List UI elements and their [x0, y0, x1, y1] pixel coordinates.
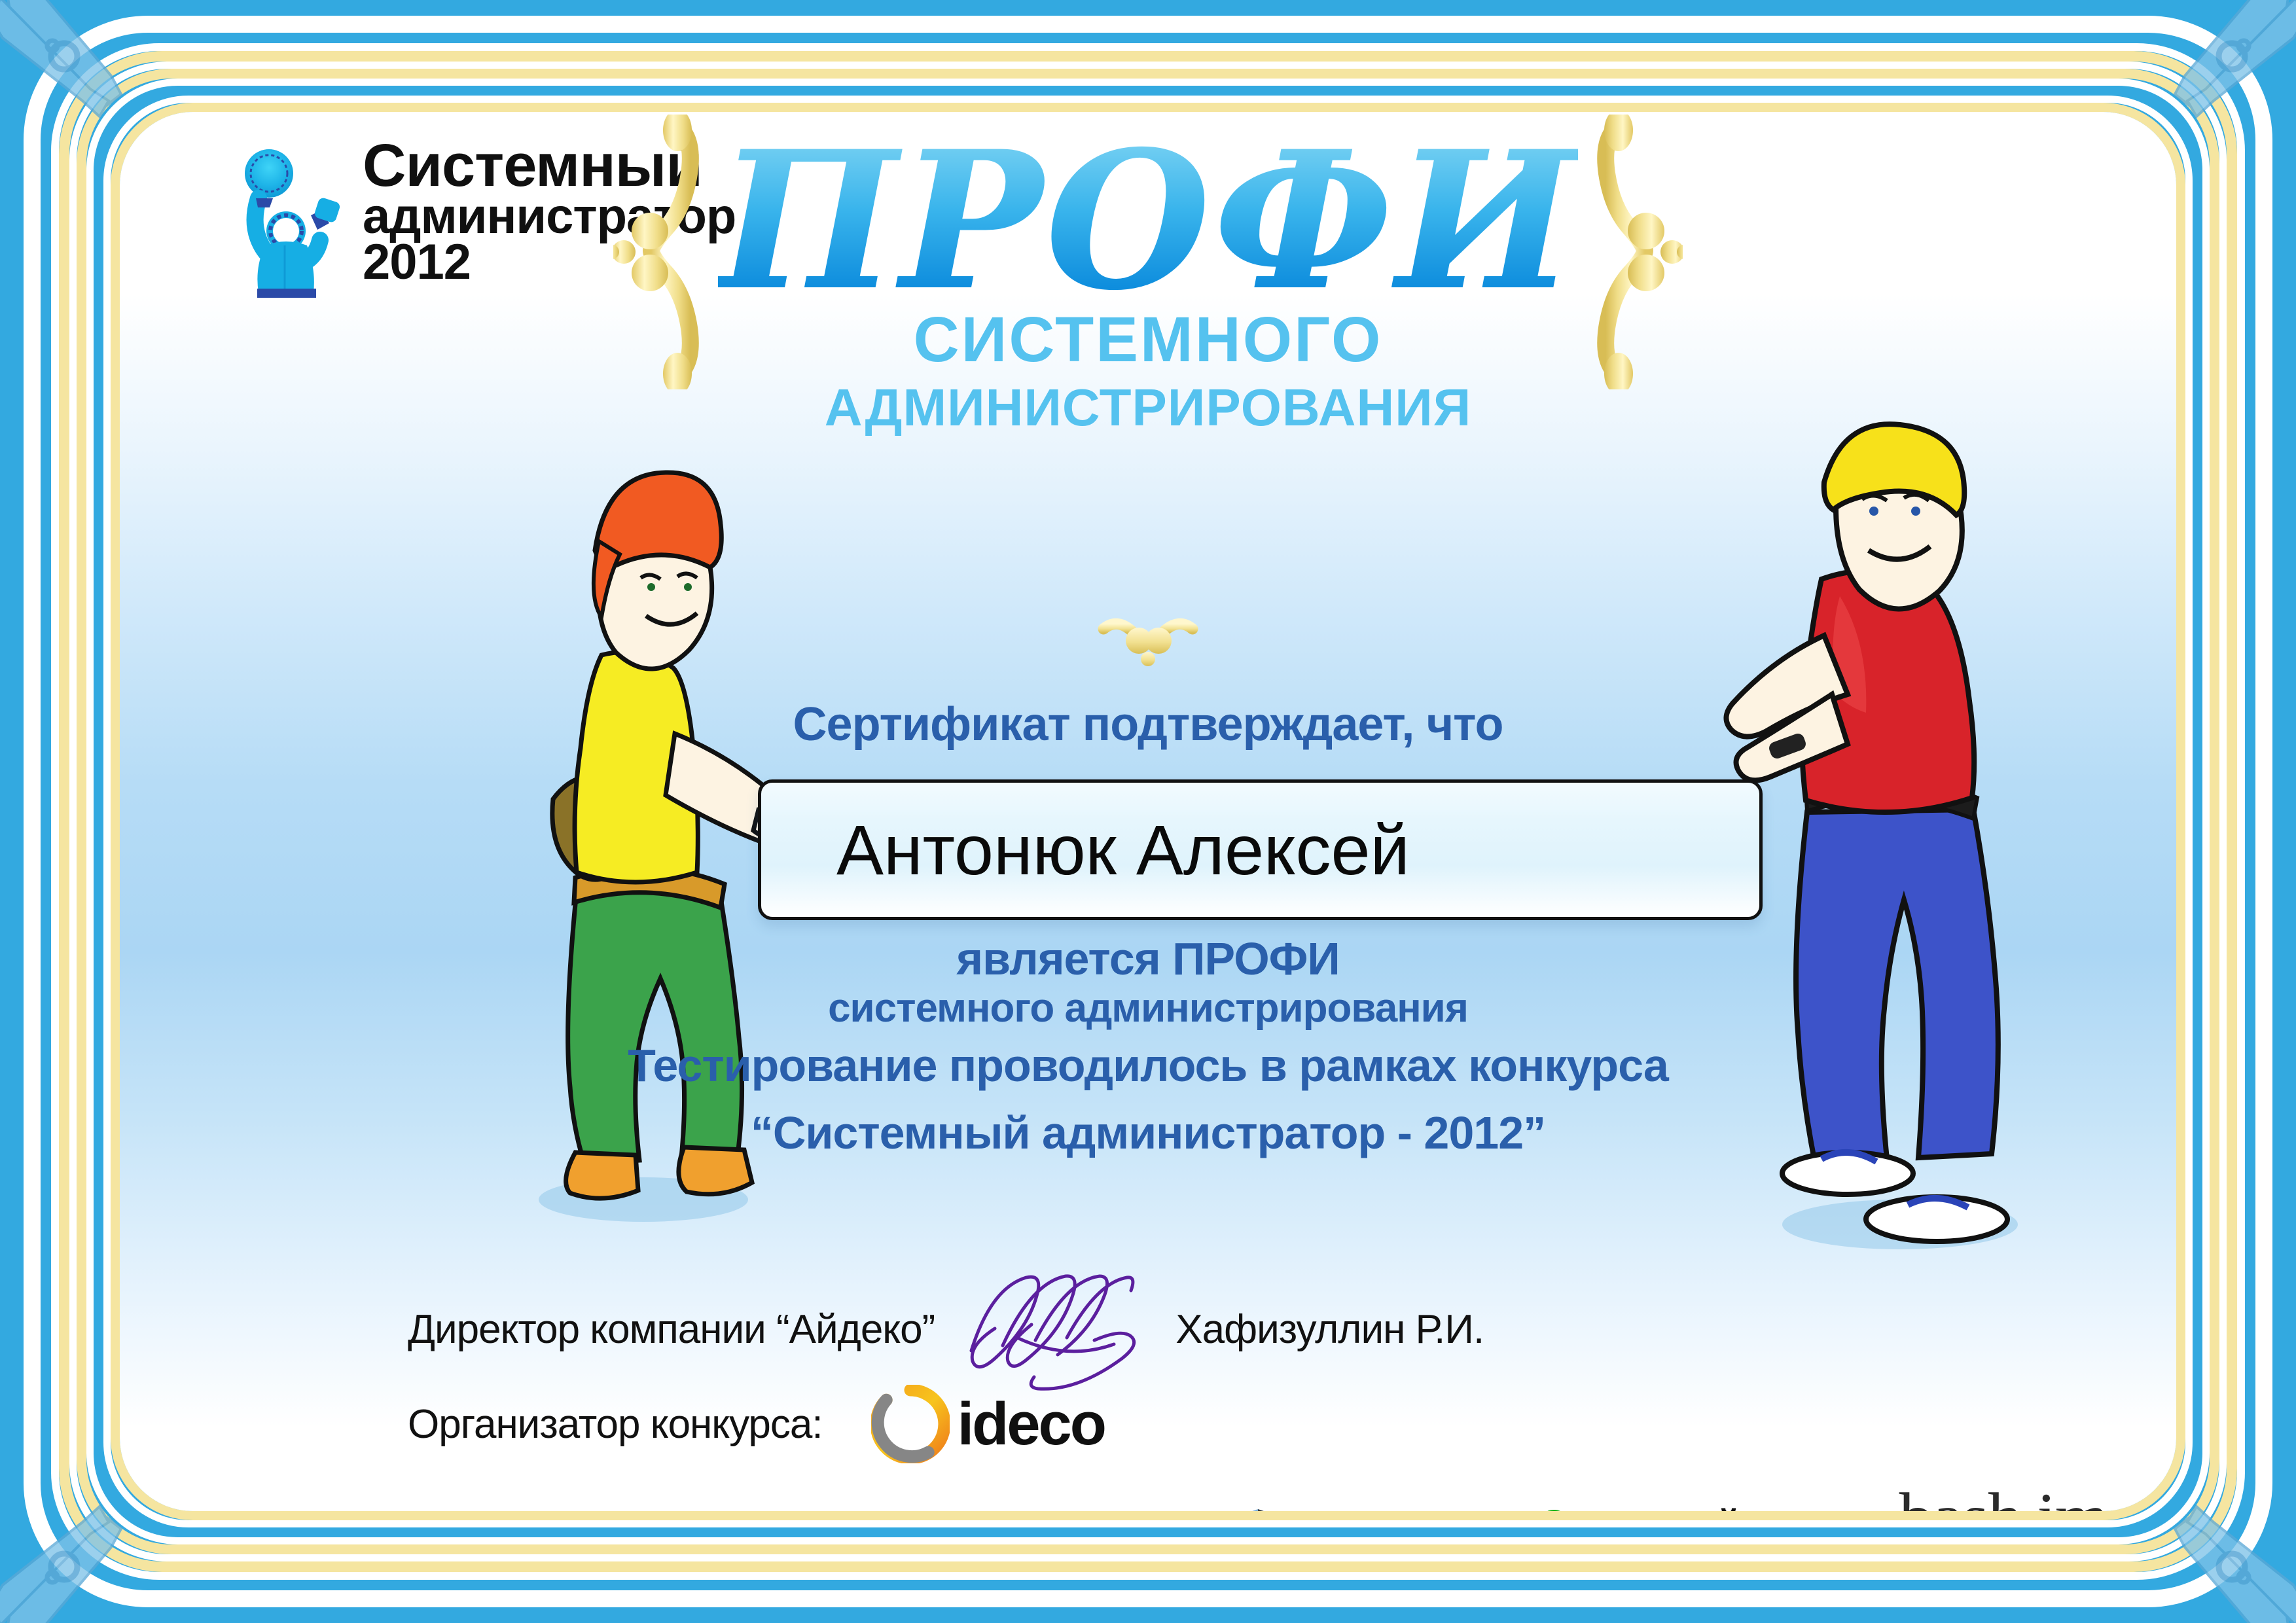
body-line-2: системного администрирования	[120, 984, 2176, 1032]
organizer-row: Организатор конкурса: ideco	[408, 1385, 1105, 1463]
confirm-line: Сертификат подтверждает, что	[120, 698, 2176, 751]
golden-ornament-icon	[1083, 609, 1213, 675]
skydns-dns-text: DNS	[1380, 1508, 1484, 1511]
title-block: ПРОФИ СИСТЕМНОГО АДМИНИСТРИРОВАНИЯ	[120, 132, 2176, 438]
skydns-sky-text: Sky	[1293, 1508, 1380, 1511]
recipient-name: Антонюк Алексей	[761, 809, 1410, 891]
sysadmin-line1-green: Сис	[1540, 1502, 1605, 1511]
bashim-logo-icon: bash.im ЦИТАТНИК РУНЕТА	[1848, 1483, 2159, 1511]
handwritten-signature-icon	[957, 1267, 1153, 1391]
profi-title: ПРОФИ	[718, 112, 1578, 332]
sysadmin-line1-black: темный	[1605, 1502, 1738, 1511]
certificate-canvas: Системный администратор 2012	[120, 112, 2176, 1511]
signature-name: Хафизуллин Р.И.	[1175, 1306, 1484, 1353]
ideco-wordmark: ideco	[958, 1390, 1105, 1459]
kaspersky-wordmark: KASPERSKY	[819, 1506, 1150, 1511]
golden-flourish-icon	[1585, 115, 1683, 389]
certificate-body-text: является ПРОФИ системного администрирова…	[120, 933, 2176, 1168]
skydns-logo-icon: SkyDNS	[1232, 1507, 1483, 1512]
sysadmin-logo-icon: Системный администратор	[1540, 1508, 1804, 1511]
skydns-wordmark: SkyDNS	[1293, 1508, 1483, 1511]
sysadmin-logo-line-1: Системный	[1540, 1508, 1804, 1511]
profi-title-row: ПРОФИ	[639, 132, 1657, 312]
organizer-label: Организатор конкурса:	[408, 1401, 823, 1448]
signature-row: Директор компании “Айдеко” Хафизуллин Р.…	[408, 1267, 1484, 1391]
bashim-wordmark: bash.im	[1848, 1483, 2159, 1511]
certificate-page: Системный администратор 2012	[0, 0, 2296, 1623]
partners-row: Партнеры конкурса: KASPERSKY lab SkyDNS …	[408, 1506, 1804, 1511]
kaspersky-logo-icon: KASPERSKY lab	[819, 1506, 1177, 1511]
ideco-ring-icon	[871, 1385, 950, 1463]
body-line-1: является ПРОФИ	[120, 933, 2176, 984]
ideco-logo: ideco	[871, 1385, 1105, 1463]
skydns-shield-icon	[1232, 1507, 1283, 1512]
golden-flourish-icon	[613, 115, 711, 389]
signature-title: Директор компании “Айдеко”	[408, 1306, 935, 1353]
recipient-name-plate: Антонюк Алексей	[758, 779, 1763, 920]
body-line-4: “Системный администратор - 2012”	[120, 1099, 2176, 1168]
body-line-3: Тестирование проводилось в рамках конкур…	[120, 1033, 2176, 1099]
